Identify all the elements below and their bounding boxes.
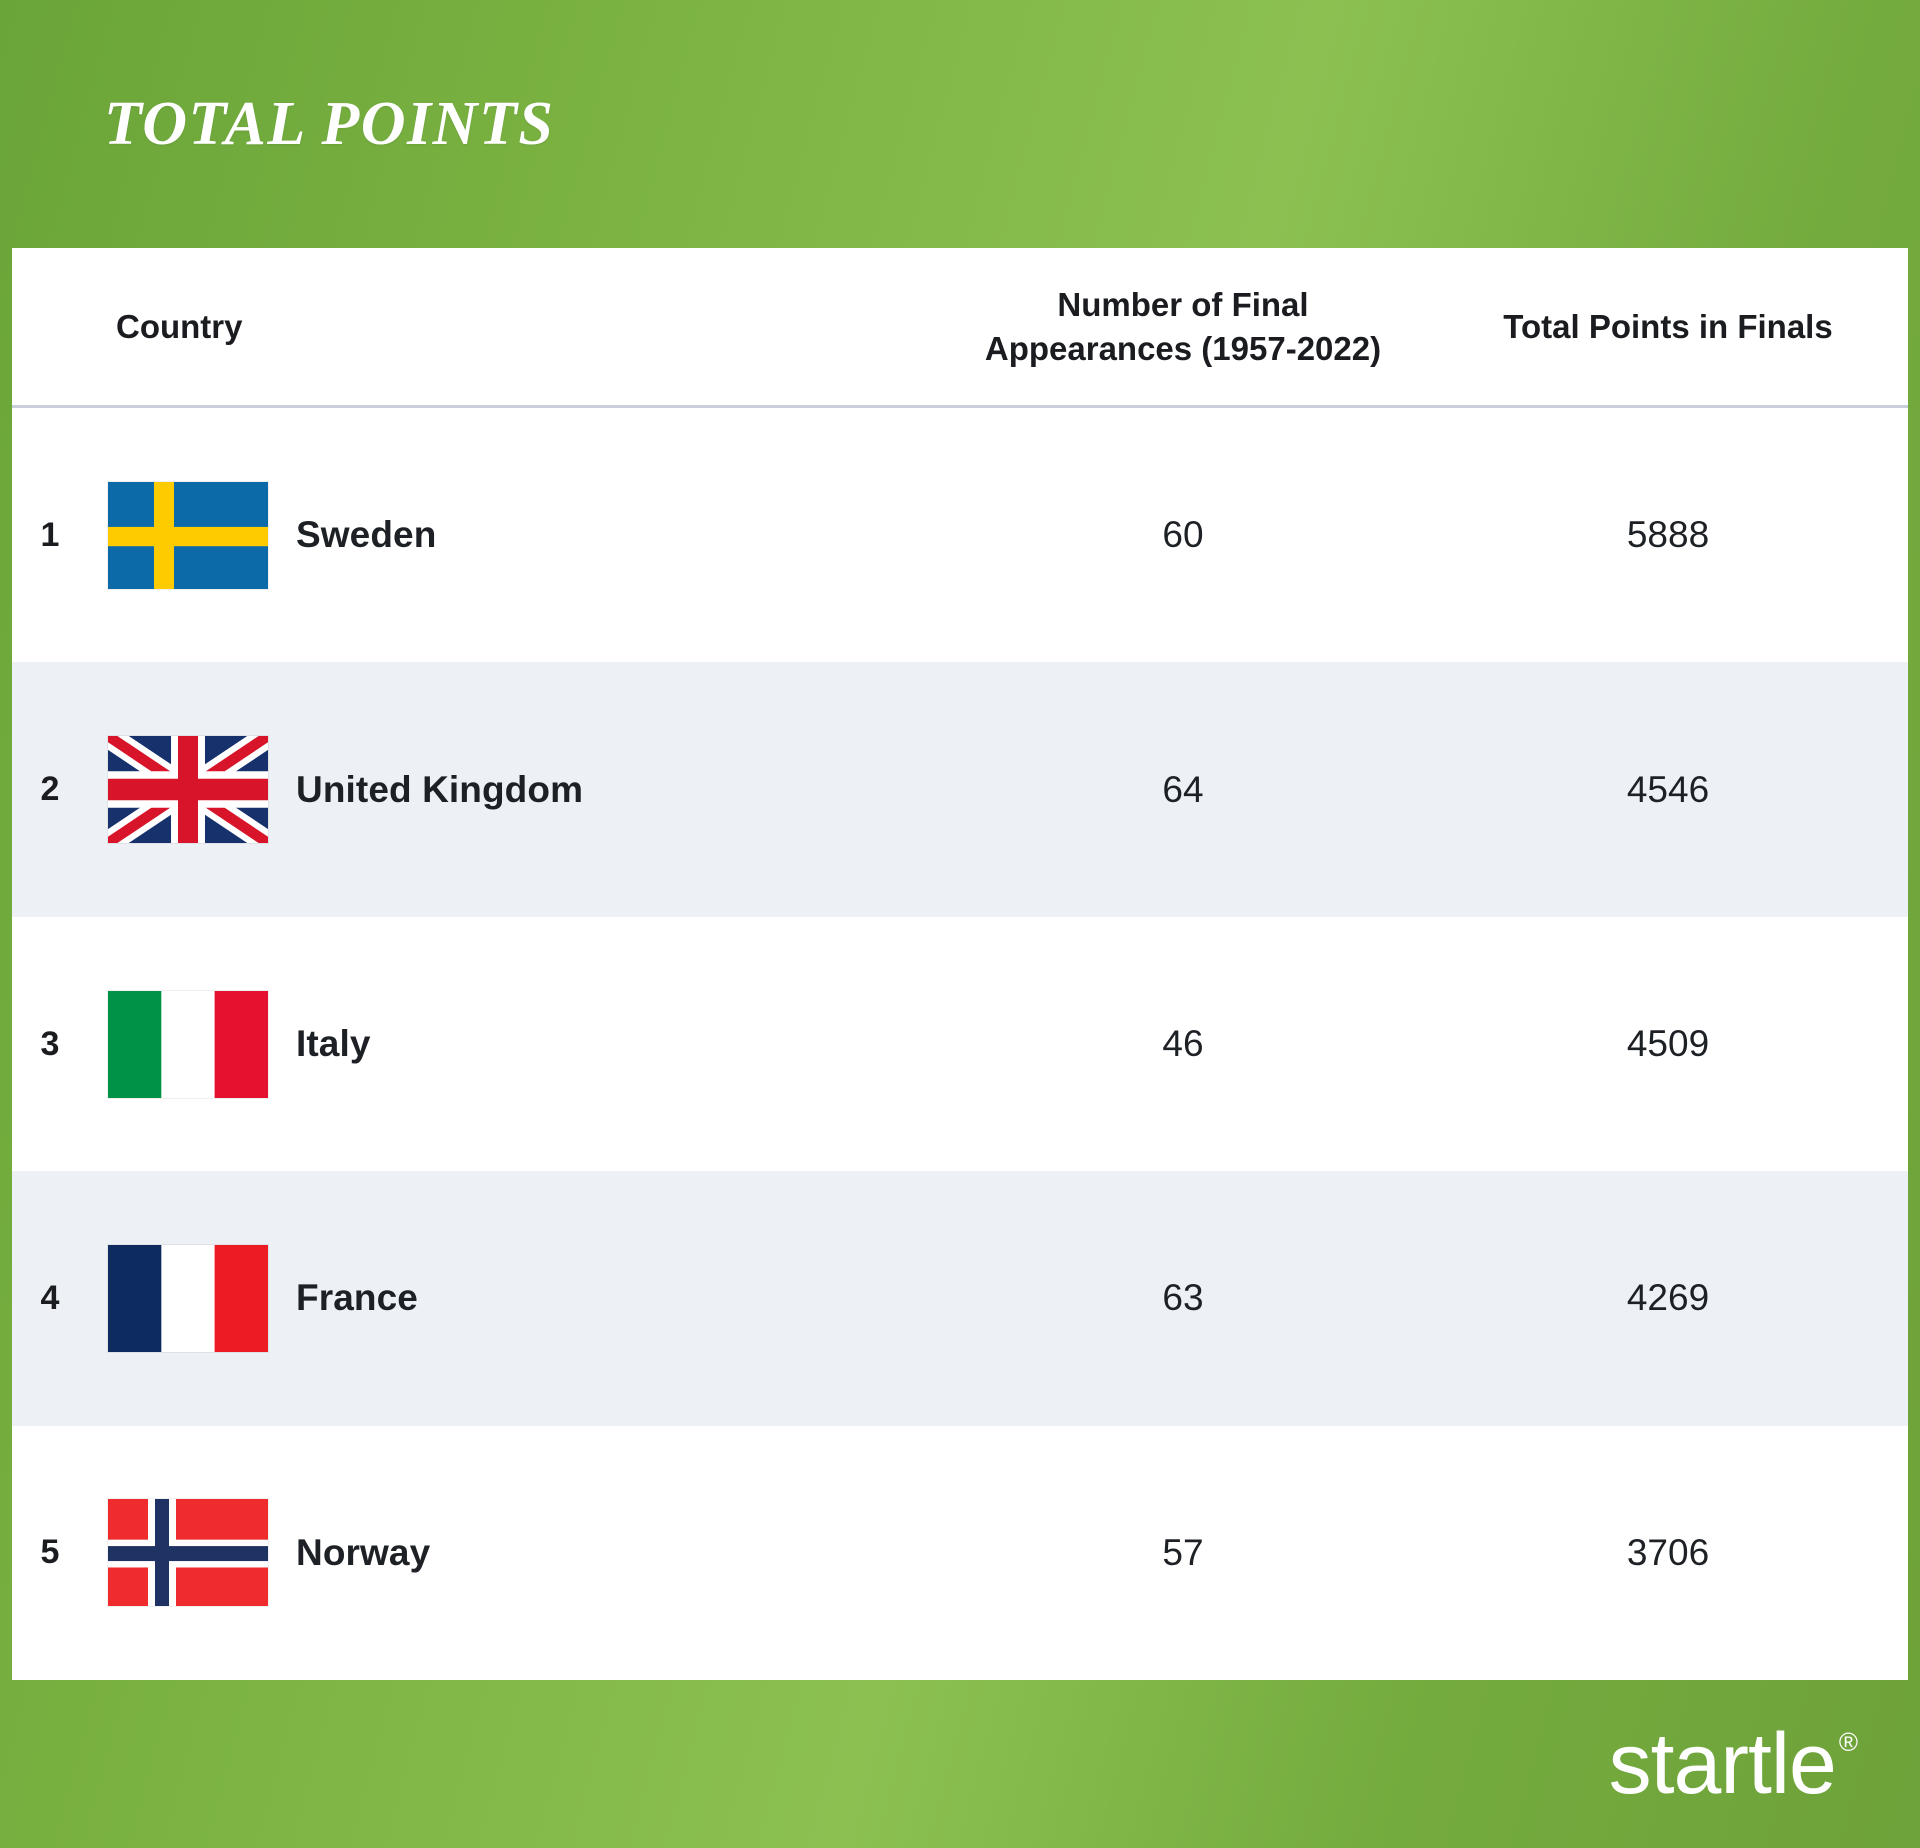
header-band: TOTAL POINTS — [0, 0, 1920, 248]
flag-france-icon — [108, 1245, 268, 1352]
infographic-root: TOTAL POINTS Country Number of Final App… — [0, 0, 1920, 1848]
row-appearances: 57 — [938, 1532, 1428, 1574]
flag-sweden-icon — [108, 482, 268, 589]
column-header-appearances-line1: Number of Final — [938, 283, 1428, 327]
row-country-name: Italy — [268, 1023, 938, 1065]
flag-cell — [88, 1499, 268, 1606]
table-row: 4 France 63 4269 — [12, 1171, 1908, 1425]
footer-band: startle ® — [0, 1680, 1920, 1848]
row-country-name: Sweden — [268, 514, 938, 556]
column-header-appearances: Number of Final Appearances (1957-2022) — [938, 283, 1428, 370]
column-header-country: Country — [88, 305, 268, 349]
table-header-row: Country Number of Final Appearances (195… — [12, 248, 1908, 408]
row-appearances: 60 — [938, 514, 1428, 556]
row-rank: 5 — [12, 1533, 88, 1572]
flag-united-kingdom-icon — [108, 736, 268, 843]
table-row: 3 Italy 46 4509 — [12, 917, 1908, 1171]
row-points: 5888 — [1428, 514, 1908, 556]
flag-cell — [88, 736, 268, 843]
flag-italy-icon — [108, 991, 268, 1098]
row-appearances: 46 — [938, 1023, 1428, 1065]
row-points: 4269 — [1428, 1277, 1908, 1319]
column-header-appearances-line2: Appearances (1957-2022) — [938, 327, 1428, 371]
startle-logo: startle ® — [1609, 1721, 1858, 1807]
row-rank: 1 — [12, 516, 88, 555]
logo-wordmark: startle — [1609, 1721, 1836, 1807]
column-header-points: Total Points in Finals — [1428, 305, 1908, 349]
row-points: 3706 — [1428, 1532, 1908, 1574]
registered-trademark-icon: ® — [1839, 1729, 1858, 1755]
table-card: Country Number of Final Appearances (195… — [12, 248, 1908, 1680]
row-points: 4509 — [1428, 1023, 1908, 1065]
row-points: 4546 — [1428, 769, 1908, 811]
row-appearances: 63 — [938, 1277, 1428, 1319]
flag-cell — [88, 1245, 268, 1352]
table-row: 1 Sweden 60 5888 — [12, 408, 1908, 662]
table-row: 5 Norway 57 3706 — [12, 1426, 1908, 1680]
table-row: 2 Unit — [12, 662, 1908, 916]
flag-cell — [88, 991, 268, 1098]
row-rank: 4 — [12, 1279, 88, 1318]
flag-cell — [88, 482, 268, 589]
row-country-name: United Kingdom — [268, 769, 938, 811]
row-country-name: France — [268, 1277, 938, 1319]
row-appearances: 64 — [938, 769, 1428, 811]
row-rank: 2 — [12, 770, 88, 809]
row-country-name: Norway — [268, 1532, 938, 1574]
row-rank: 3 — [12, 1025, 88, 1064]
page-title: TOTAL POINTS — [104, 89, 554, 160]
flag-norway-icon — [108, 1499, 268, 1606]
table-body: 1 Sweden 60 5888 2 — [12, 408, 1908, 1680]
